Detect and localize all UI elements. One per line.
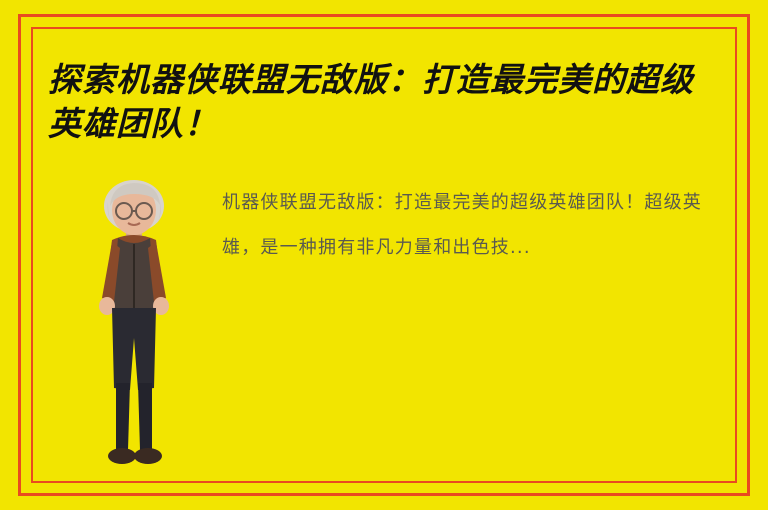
poster-card: 探索机器侠联盟无敌版：打造最完美的超级英雄团队！ bbox=[0, 0, 768, 510]
page-title: 探索机器侠联盟无敌版：打造最完美的超级英雄团队！ bbox=[48, 58, 720, 146]
superhero-character-illustration bbox=[72, 178, 196, 478]
body-text: 机器侠联盟无敌版：打造最完美的超级英雄团队！超级英雄，是一种拥有非凡力量和出色技… bbox=[222, 180, 722, 270]
